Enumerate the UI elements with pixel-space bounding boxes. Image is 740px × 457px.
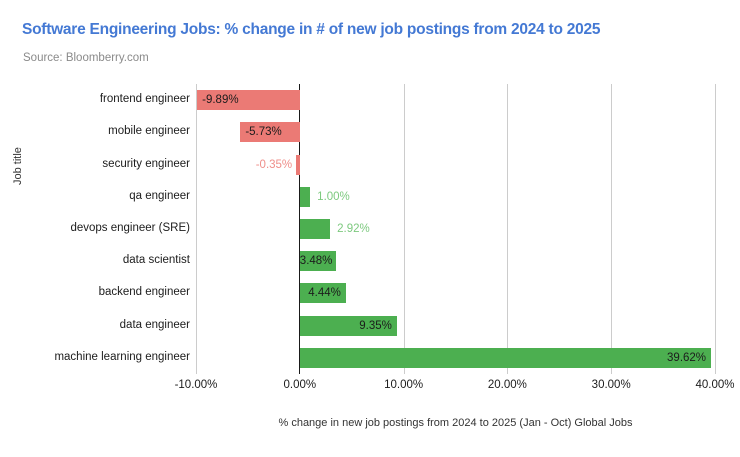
chart-title: Software Engineering Jobs: % change in #… — [22, 21, 600, 39]
x-axis-tick-labels: -10.00%0.00%10.00%20.00%30.00%40.00% — [0, 379, 740, 395]
bar-row[interactable]: 2.92% — [196, 213, 715, 245]
bar[interactable] — [300, 219, 330, 239]
plot-area: -9.89%-5.73%-0.35%1.00%2.92%3.48%4.44%9.… — [196, 84, 715, 374]
bar-row[interactable]: 1.00% — [196, 181, 715, 213]
y-axis-tick-label: qa engineer — [32, 190, 190, 204]
y-axis-tick-label: data scientist — [32, 254, 190, 268]
y-axis-tick-label: security engineer — [32, 158, 190, 172]
chart-source-subtitle: Source: Bloomberry.com — [23, 52, 149, 64]
bar-row[interactable]: 4.44% — [196, 277, 715, 309]
bar-value-label: 1.00% — [317, 187, 350, 207]
x-axis-title: % change in new job postings from 2024 t… — [196, 417, 715, 429]
bar-value-label: 9.35% — [300, 316, 392, 336]
x-axis-tick-label: 10.00% — [384, 379, 423, 391]
bar-row[interactable]: -0.35% — [196, 149, 715, 181]
bar-value-label: -9.89% — [202, 90, 300, 110]
bar-row[interactable]: 9.35% — [196, 310, 715, 342]
bar-value-label: -5.73% — [245, 122, 299, 142]
y-axis-tick-label: frontend engineer — [32, 93, 190, 107]
x-axis-tick-label: -10.00% — [175, 379, 218, 391]
y-axis-tick-label: machine learning engineer — [32, 351, 190, 365]
x-axis-tick-label: 30.00% — [592, 379, 631, 391]
x-axis-tick-label: 20.00% — [488, 379, 527, 391]
bar-row[interactable]: 39.62% — [196, 342, 715, 374]
bar-value-label: 2.92% — [337, 219, 370, 239]
x-axis-tick-label: 40.00% — [695, 379, 734, 391]
bar-row[interactable]: -9.89% — [196, 84, 715, 116]
bar[interactable] — [300, 187, 310, 207]
x-axis-tick-label: 0.00% — [283, 379, 316, 391]
gridline-40 — [715, 84, 716, 374]
y-axis-tick-label: mobile engineer — [32, 125, 190, 139]
bar-value-label: 39.62% — [300, 348, 706, 368]
bar-value-label: 3.48% — [300, 251, 331, 271]
bar-row[interactable]: -5.73% — [196, 116, 715, 148]
y-axis-tick-label: backend engineer — [32, 286, 190, 300]
bar-row[interactable]: 3.48% — [196, 245, 715, 277]
bar-value-label: -0.35% — [232, 155, 292, 175]
y-axis-title: Job title — [12, 169, 24, 185]
bar-value-label: 4.44% — [300, 283, 341, 303]
y-axis-tick-label: data engineer — [32, 319, 190, 333]
bar[interactable] — [296, 155, 300, 175]
y-axis-tick-labels: frontend engineermobile engineersecurity… — [30, 84, 190, 374]
y-axis-tick-label: devops engineer (SRE) — [32, 222, 190, 236]
